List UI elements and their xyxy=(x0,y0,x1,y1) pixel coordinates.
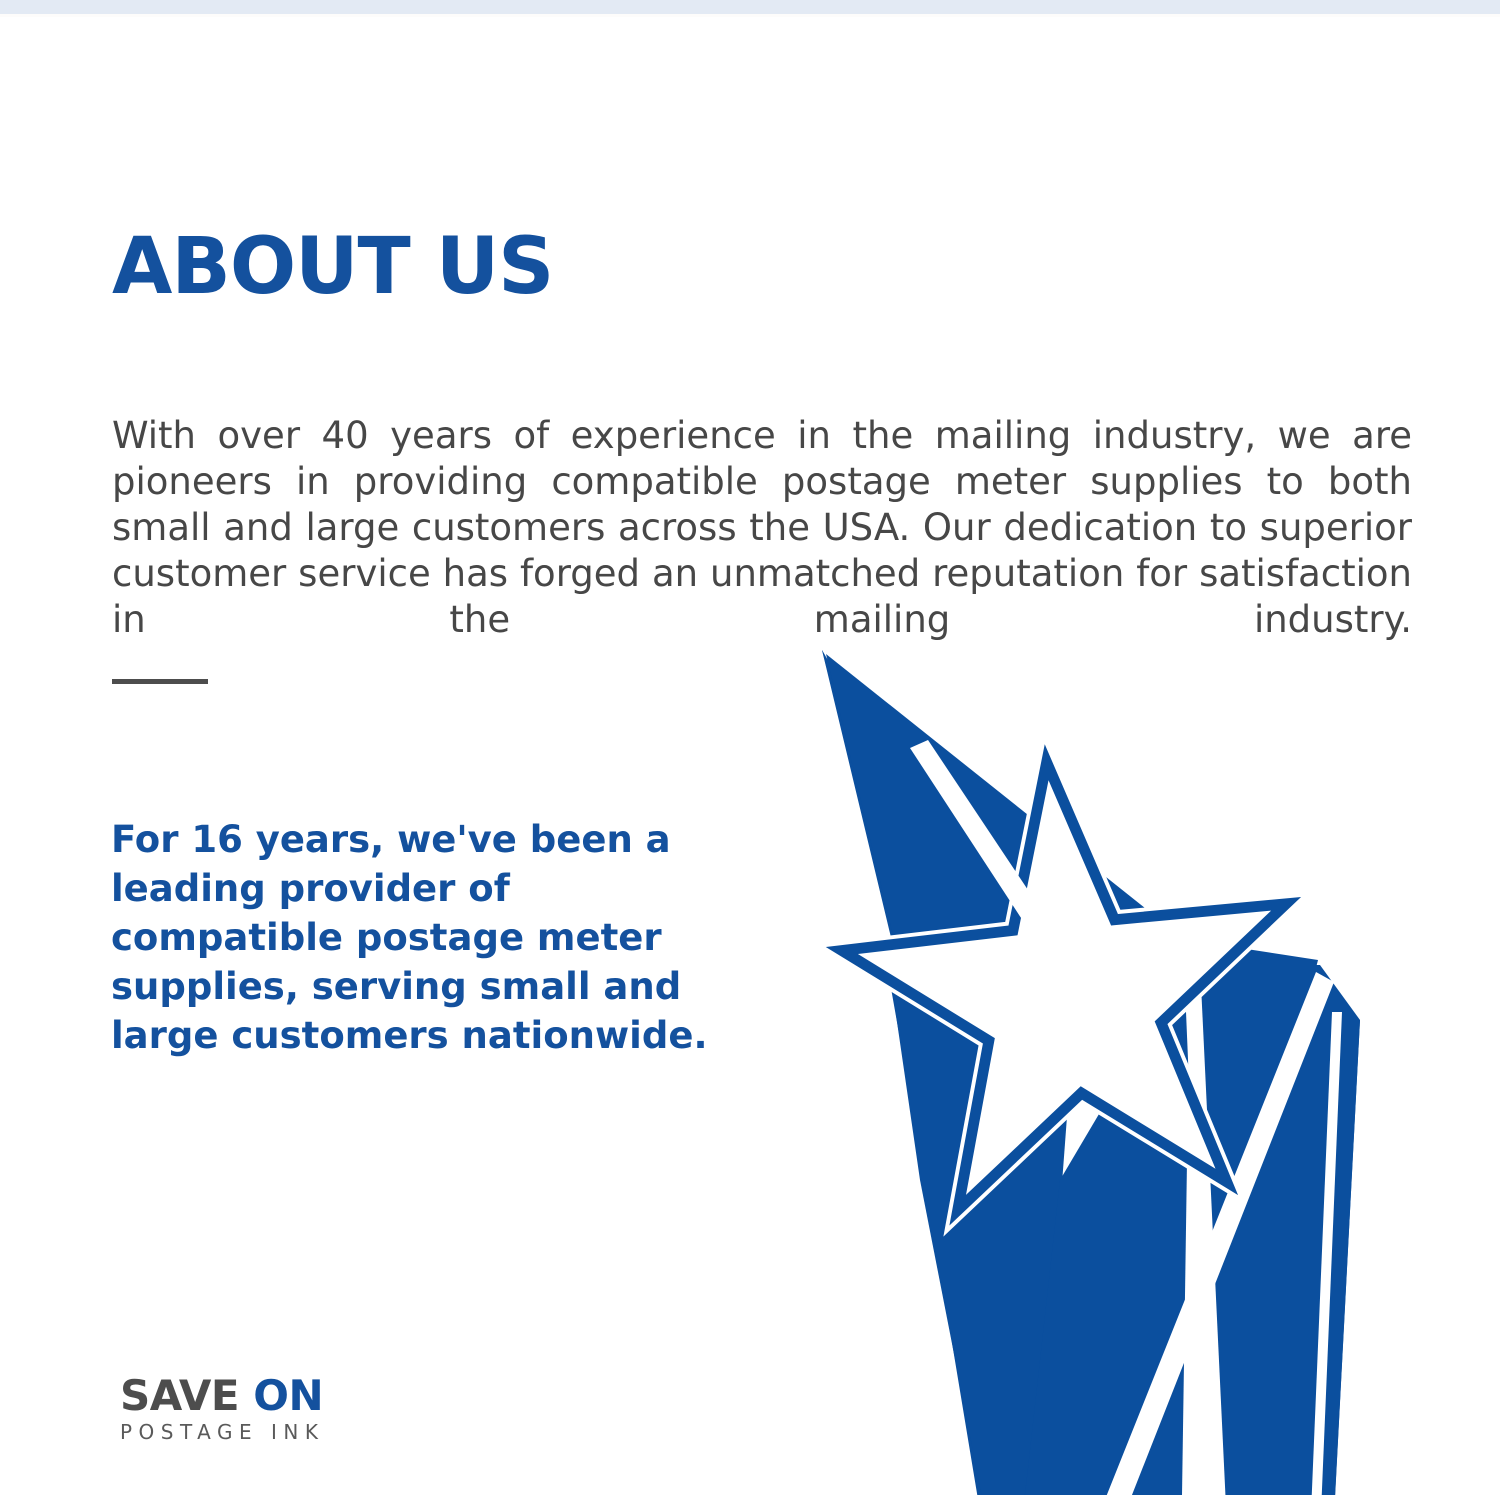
logo-tagline: POSTAGE INK xyxy=(120,1420,360,1444)
star-award-trophy-icon: 16 Years Customer Service xyxy=(760,620,1380,1495)
about-us-slide: ABOUT US With over 40 years of experienc… xyxy=(0,0,1500,1495)
top-accent-band xyxy=(0,0,1500,14)
top-accent-band-edge xyxy=(0,14,1500,17)
highlight-paragraph: For 16 years, we've been a leading provi… xyxy=(111,815,711,1060)
logo-wordmark: SAVE ON xyxy=(120,1374,360,1418)
logo-word-save: SAVE xyxy=(120,1371,239,1420)
brand-logo: SAVE ON POSTAGE INK xyxy=(120,1374,360,1444)
logo-word-on: ON xyxy=(253,1371,323,1420)
page-title: ABOUT US xyxy=(112,228,553,306)
section-divider xyxy=(112,679,208,684)
